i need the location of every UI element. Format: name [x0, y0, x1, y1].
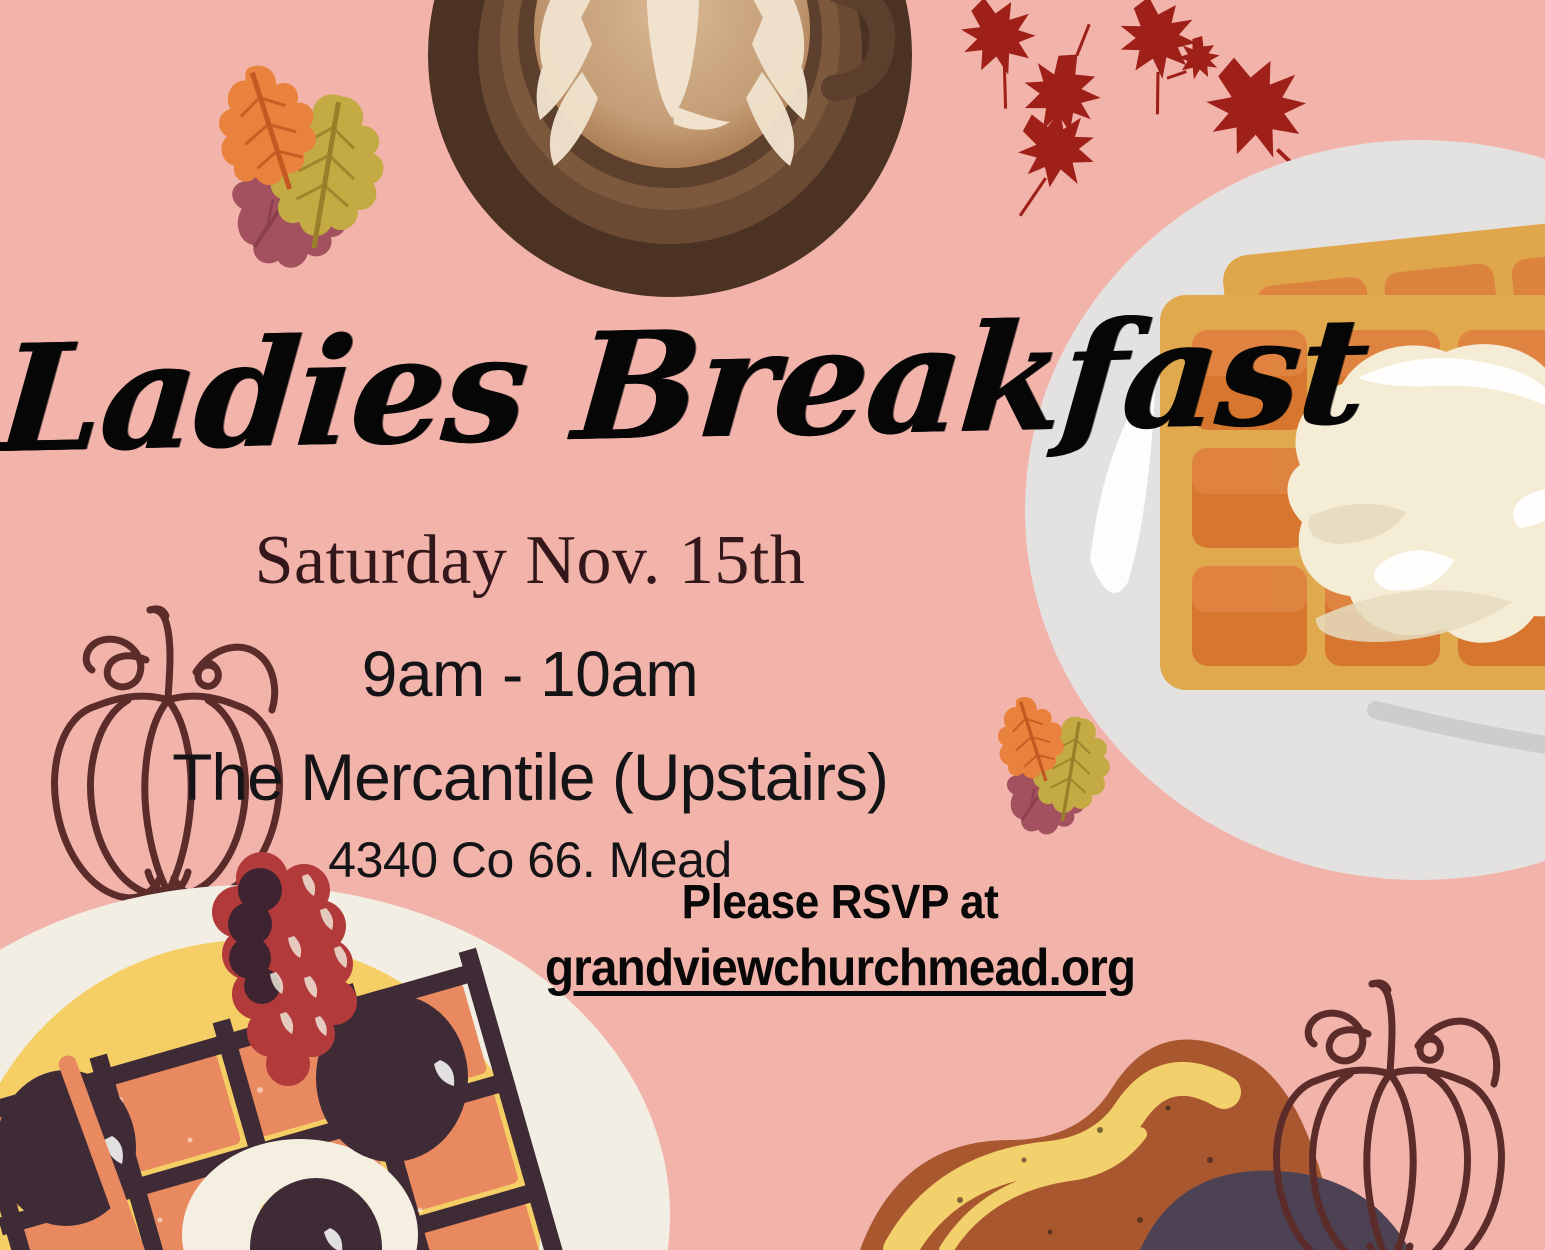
event-time: 9am - 10am — [0, 637, 1060, 711]
event-venue: The Mercantile (Upstairs) — [0, 739, 1060, 815]
event-text-block: Ladies Breakfast Saturday Nov. 15th 9am … — [0, 318, 1060, 889]
event-date: Saturday Nov. 15th — [0, 521, 1060, 601]
flyer-canvas: Ladies Breakfast Saturday Nov. 15th 9am … — [0, 0, 1545, 1250]
autumn-leaves-cluster-top-left — [203, 55, 392, 282]
rsvp-url-link[interactable]: grandviewchurchmead.org — [490, 938, 1189, 998]
bread-syrup-icon — [860, 1040, 1410, 1250]
rsvp-prompt: Please RSVP at — [490, 875, 1189, 930]
waffle-plate-icon — [1025, 140, 1545, 880]
latte-cup-icon — [428, 0, 912, 297]
page-title: Ladies Breakfast — [0, 307, 1067, 470]
maple-leaves-scatter — [953, 0, 1332, 217]
pumpkin-outline-icon-bottom-right — [1277, 983, 1502, 1250]
rsvp-block: Please RSVP at grandviewchurchmead.org — [460, 875, 1220, 998]
